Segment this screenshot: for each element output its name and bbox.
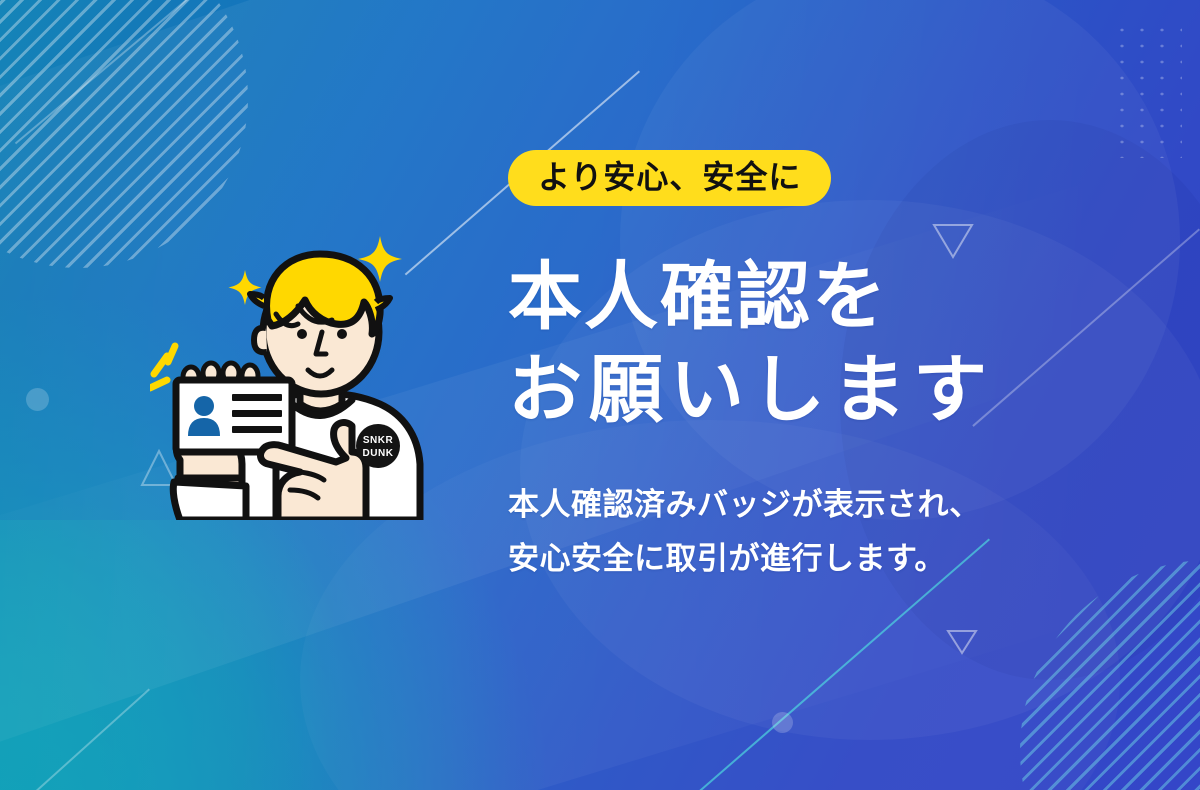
striped-circle-bottom-right	[1020, 560, 1200, 790]
text-content: より安心、安全に 本人確認を お願いします 本人確認済みバッジが表示され、 安心…	[508, 150, 1068, 585]
promo-badge: より安心、安全に	[508, 150, 831, 206]
subtext: 本人確認済みバッジが表示され、 安心安全に取引が進行します。	[508, 478, 1068, 585]
character-eye-left	[297, 329, 307, 339]
soft-dot-bottom	[772, 712, 793, 733]
triangle-down-icon-bottom	[946, 628, 978, 656]
teal-gradient-wash-secondary	[0, 520, 500, 790]
subtext-line-1: 本人確認済みバッジが表示され、	[508, 478, 1068, 531]
subtext-line-2: 安心安全に取引が進行します。	[508, 532, 1068, 585]
hair-tip-right	[376, 298, 390, 310]
id-card-text-lines	[232, 394, 282, 433]
headline-line-1: 本人確認を	[508, 250, 1068, 343]
promo-banner: SNKR DUNK より安心、安全に 本人確認を お願いします 本人確認済みバッ…	[0, 0, 1200, 790]
logo-line-1: SNKR	[363, 435, 394, 446]
diagonal-hairline-upper-left	[15, 0, 200, 144]
character-left-cuff-sleeve	[173, 482, 246, 520]
character-illustration: SNKR DUNK	[150, 228, 450, 520]
snkr-dunk-logo: SNKR DUNK	[356, 424, 400, 468]
spark-lines	[150, 346, 175, 388]
character-eye-right	[337, 329, 347, 339]
hair-tip-left	[250, 294, 264, 306]
page-title: 本人確認を お願いします	[508, 250, 1068, 436]
dot-grid-top-right	[1112, 22, 1182, 158]
character-ear-left	[254, 328, 267, 353]
soft-dot-left	[26, 388, 49, 411]
headline-line-2: お願いします	[508, 343, 1068, 436]
diagonal-hairline-bottom-left	[0, 689, 150, 790]
logo-line-2: DUNK	[363, 448, 394, 459]
